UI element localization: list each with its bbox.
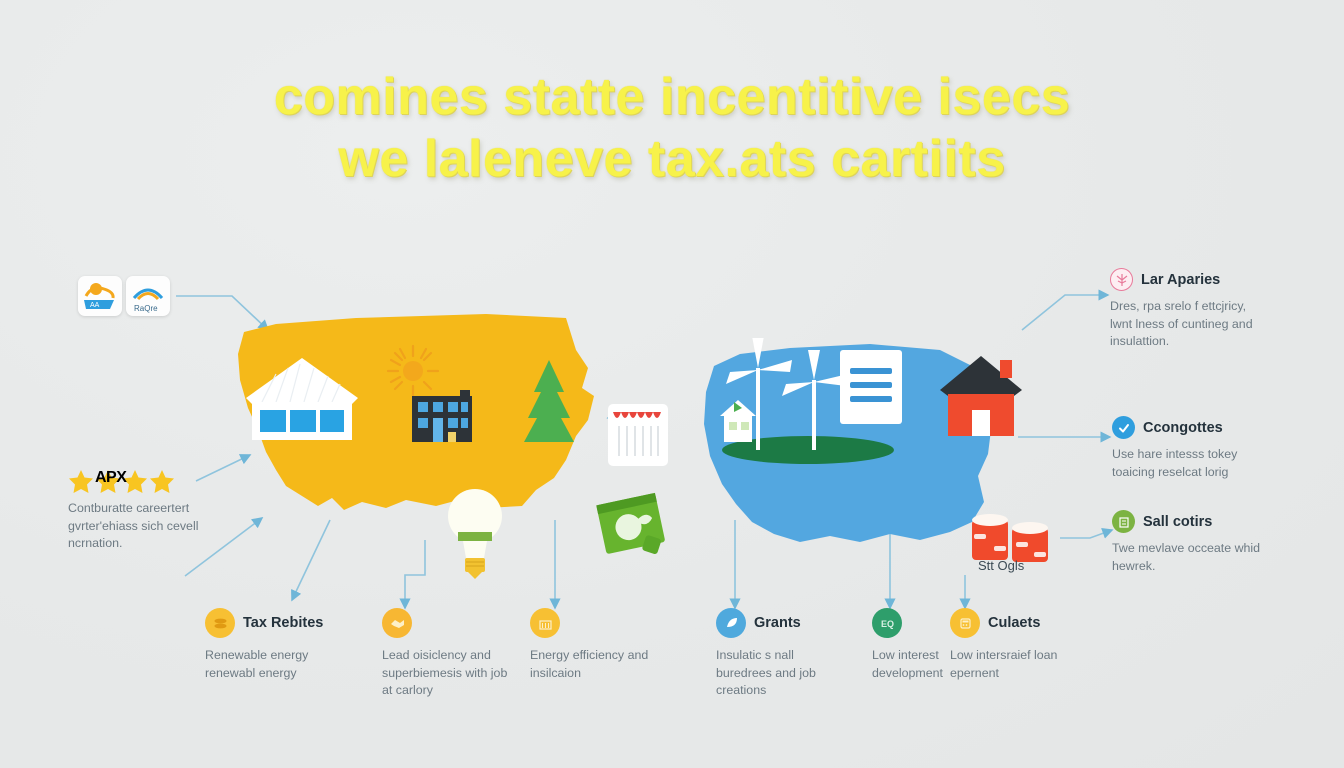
handshake-icon: [382, 608, 412, 638]
callout-heading-row: [530, 608, 660, 638]
weather-icon: AA: [78, 276, 122, 316]
callout-lar-aparies: Lar Aparies Dres, rpa srelo f ettcjricy,…: [1110, 268, 1262, 351]
callout-body: Low intersraief loan epernent: [950, 647, 1070, 682]
document-icon: [840, 350, 902, 430]
red-house-icon: [938, 354, 1024, 436]
svg-text:RaQre: RaQre: [134, 304, 158, 313]
callout-body: Twe mevlave occeate whid hewrek.: [1112, 540, 1264, 575]
connector-lines: [0, 0, 1344, 768]
callout-ccongottes: Ccongottes Use hare intesss tokey toaici…: [1112, 416, 1264, 481]
star-icon: [68, 468, 95, 494]
callout-lead-oisiclency: Lead oisiclency and superbiemesis with j…: [382, 608, 512, 700]
callout-heading-row: Grants: [716, 608, 838, 638]
ratings-callout: APX Contburatte careertert gvrter'ehiass…: [68, 468, 218, 553]
callout-body: Lead oisiclency and superbiemesis with j…: [382, 647, 512, 700]
callout-heading: Tax Rebites: [243, 615, 323, 631]
callout-heading-row: Culaets: [950, 608, 1070, 638]
storefront-icon: [608, 404, 668, 466]
infographic-canvas: comines statte incentitive isecs we lale…: [0, 0, 1344, 768]
callout-body: Insulatic s nall buredrees and job creat…: [716, 647, 838, 700]
calculator-icon: [950, 608, 980, 638]
callout-grants: Grants Insulatic s nall buredrees and jo…: [716, 608, 838, 700]
callout-body: Renewable energy renewabl energy: [205, 647, 355, 682]
callout-culaets: Culaets Low intersraief loan epernent: [950, 608, 1070, 682]
callout-heading-row: Ccongottes: [1112, 416, 1264, 439]
check-circle-icon: [1112, 416, 1135, 439]
money-tag-icon: [596, 490, 672, 568]
leaf-icon: [716, 608, 746, 638]
callout-heading-row: Lar Aparies: [1110, 268, 1262, 291]
svg-text:AA: AA: [90, 302, 100, 309]
apx-overlay-label: APX: [95, 469, 126, 487]
callout-heading: Culaets: [988, 615, 1040, 631]
callout-body: Dres, rpa srelo f ettcjricy, lwnt lness …: [1110, 298, 1262, 351]
pine-tree-icon: [520, 356, 578, 448]
lightbulb-icon: [444, 484, 506, 580]
bank-icon: EQ: [872, 608, 902, 638]
callout-sall-cotirs: Sall cotirs Twe mevlave occeate whid hew…: [1112, 510, 1264, 575]
rainbow-tile[interactable]: RaQre: [126, 276, 170, 316]
coins-icon: [205, 608, 235, 638]
star-icon: [149, 468, 176, 494]
star-rating: APX: [68, 468, 218, 494]
callout-body: Energy efficiency and insilcaion: [530, 647, 660, 682]
weather-tile[interactable]: AA: [78, 276, 122, 316]
building-icon: [1112, 510, 1135, 533]
callout-heading: Ccongottes: [1143, 420, 1223, 436]
callout-heading-row: Sall cotirs: [1112, 510, 1264, 533]
office-building-icon: [408, 386, 478, 444]
barrel-caption: Stt Ogls: [978, 558, 1024, 573]
callout-body: Use hare intesss tokey toaicing reselcat…: [1112, 446, 1264, 481]
warehouse-icon: [242, 352, 362, 444]
rainbow-icon: RaQre: [126, 276, 170, 316]
callout-heading: Lar Aparies: [1141, 272, 1220, 288]
callout-energy-efficiency: Energy efficiency and insilcaion: [530, 608, 660, 682]
callout-heading: Grants: [754, 615, 801, 631]
svg-text:EQ: EQ: [881, 619, 894, 629]
ratings-body: Contburatte careertert gvrter'ehiass sic…: [68, 500, 218, 553]
leaf-circle-icon: [1110, 268, 1133, 291]
factory-icon: [530, 608, 560, 638]
callout-heading-row: [382, 608, 512, 638]
callout-tax-rebites: Tax Rebites Renewable energy renewabl en…: [205, 608, 355, 682]
callout-heading-row: Tax Rebites: [205, 608, 355, 638]
callout-heading: Sall cotirs: [1143, 514, 1212, 530]
